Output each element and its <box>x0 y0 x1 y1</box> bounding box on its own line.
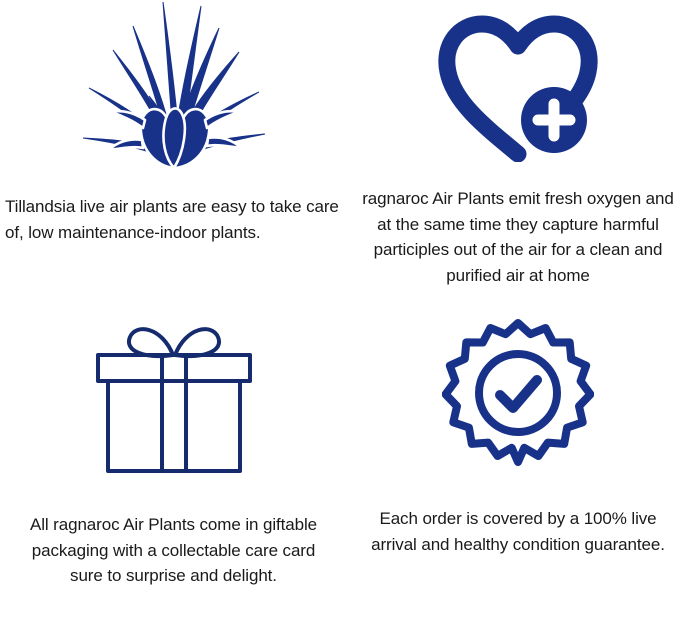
feature-caption: Each order is covered by a 100% live arr… <box>361 506 675 557</box>
feature-cell-live-arrival-guarantee: Each order is covered by a 100% live arr… <box>347 309 679 617</box>
feature-grid: Tillandsia live air plants are easy to t… <box>0 0 679 617</box>
feature-caption: All ragnaroc Air Plants come in giftable… <box>8 512 339 589</box>
heart-plus-icon <box>359 14 677 162</box>
feature-cell-giftable-packaging: All ragnaroc Air Plants come in giftable… <box>0 309 347 617</box>
feature-caption: Tillandsia live air plants are easy to t… <box>4 194 343 245</box>
feature-cell-air-plant-care: Tillandsia live air plants are easy to t… <box>0 0 347 309</box>
air-plant-icon <box>4 0 343 170</box>
feature-caption: ragnaroc Air Plants emit fresh oxygen an… <box>359 186 677 288</box>
guarantee-seal-icon <box>361 317 675 473</box>
feature-cell-fresh-oxygen: ragnaroc Air Plants emit fresh oxygen an… <box>347 0 679 309</box>
gift-box-icon <box>8 319 339 479</box>
